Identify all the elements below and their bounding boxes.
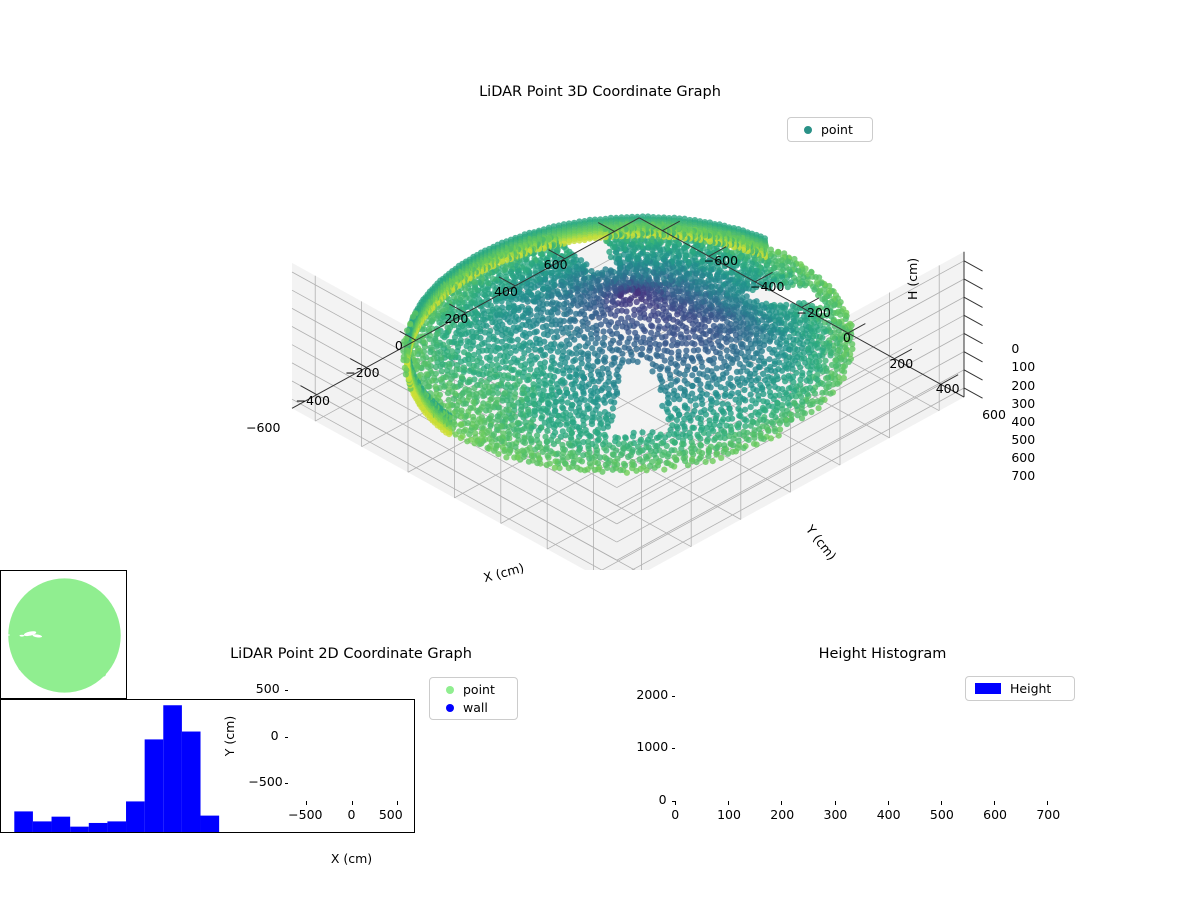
tick-label: 1000: [636, 739, 668, 754]
legend-label: Height: [1010, 681, 1051, 696]
tick-mark: [672, 801, 676, 802]
height-swatch-icon: [975, 683, 1001, 694]
tick-label: 200: [444, 311, 468, 326]
plot2d-axes[interactable]: [0, 570, 127, 699]
tick-mark: [352, 801, 353, 805]
tick-label: −200: [345, 365, 379, 380]
tick-label: 600: [1011, 450, 1035, 465]
tick-label: 600: [982, 407, 1006, 422]
tick-mark: [781, 801, 782, 805]
plot2d-legend[interactable]: point wall: [429, 677, 518, 720]
plot2d-xaxis-label: X (cm): [0, 851, 703, 866]
plot2d-canvas: [1, 571, 127, 699]
tick-label: 400: [494, 284, 518, 299]
tick-mark: [1047, 801, 1048, 805]
tick-label: 300: [824, 807, 848, 822]
tick-label: 600: [983, 807, 1007, 822]
tick-label: 500: [256, 681, 280, 696]
tick-mark: [672, 696, 676, 697]
tick-label: 2000: [636, 687, 668, 702]
tick-mark: [285, 783, 289, 784]
tick-mark: [285, 690, 289, 691]
tick-mark: [728, 801, 729, 805]
tick-label: 200: [889, 356, 913, 371]
tick-mark: [835, 801, 836, 805]
tick-label: −500: [288, 807, 322, 822]
tick-label: 400: [877, 807, 901, 822]
tick-mark: [994, 801, 995, 805]
tick-mark: [888, 801, 889, 805]
tick-label: 0: [348, 807, 356, 822]
tick-label: 0: [1011, 341, 1019, 356]
tick-label: −500: [248, 774, 282, 789]
tick-mark: [941, 801, 942, 805]
legend-label: point: [463, 682, 495, 697]
tick-label: 0: [843, 330, 851, 345]
tick-label: 0: [671, 807, 679, 822]
tick-label: −400: [296, 393, 330, 408]
legend-item-point: point: [437, 682, 510, 697]
tick-label: −600: [246, 420, 280, 435]
plot2d-title: LiDAR Point 2D Coordinate Graph: [209, 646, 493, 662]
plot2d-yaxis-label: Y (cm): [222, 716, 237, 756]
tick-mark: [397, 801, 398, 805]
tick-label: 600: [544, 257, 568, 272]
tick-label: −200: [797, 305, 831, 320]
tick-mark: [675, 801, 676, 805]
tick-label: 100: [1011, 359, 1035, 374]
tick-label: −400: [750, 279, 784, 294]
tick-mark: [306, 801, 307, 805]
tick-label: 700: [1011, 468, 1035, 483]
point-marker-icon: [446, 686, 454, 694]
tick-label: 400: [1011, 414, 1035, 429]
tick-label: 200: [770, 807, 794, 822]
tick-mark: [285, 737, 289, 738]
tick-label: 300: [1011, 396, 1035, 411]
legend-item-height: Height: [973, 681, 1067, 696]
tick-label: 500: [1011, 432, 1035, 447]
tick-label: −600: [704, 253, 738, 268]
tick-label: 500: [379, 807, 403, 822]
tick-label: 200: [1011, 378, 1035, 393]
legend-label: wall: [463, 700, 488, 715]
tick-label: 0: [659, 792, 667, 807]
histogram-title: Height Histogram: [675, 646, 1090, 662]
legend-item-wall: wall: [437, 700, 510, 715]
histogram-legend[interactable]: Height: [965, 676, 1075, 701]
tick-label: 0: [395, 338, 403, 353]
wall-marker-icon: [446, 704, 454, 712]
tick-label: 700: [1036, 807, 1060, 822]
tick-label: 100: [717, 807, 741, 822]
tick-label: 500: [930, 807, 954, 822]
plot3d-zaxis-label: H (cm): [905, 258, 920, 300]
plot3d-axes[interactable]: [0, 0, 1200, 570]
plot3d-canvas: [0, 0, 1200, 570]
tick-label: 400: [936, 381, 960, 396]
tick-label: 0: [271, 728, 279, 743]
tick-mark: [672, 748, 676, 749]
